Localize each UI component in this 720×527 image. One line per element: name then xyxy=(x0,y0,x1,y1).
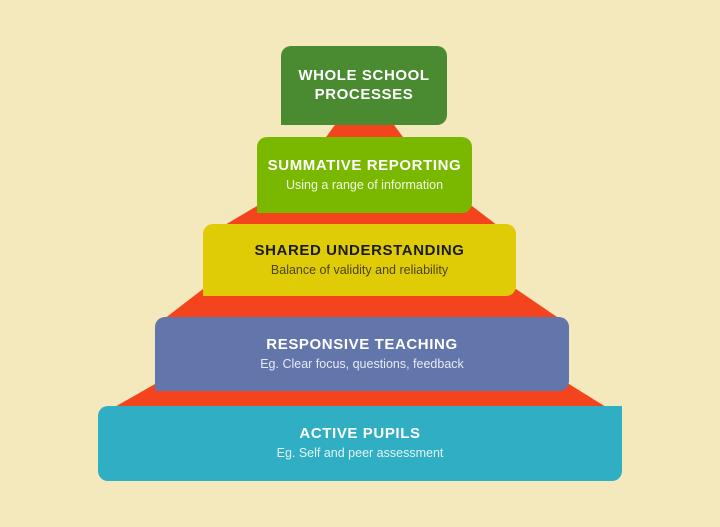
tier-subtitle: Using a range of information xyxy=(286,178,443,194)
tier-title: ACTIVE PUPILS xyxy=(299,425,420,443)
tier-title: WHOLE SCHOOL PROCESSES xyxy=(281,67,447,104)
tier-subtitle: Balance of validity and reliability xyxy=(271,263,448,279)
pyramid-tier-active-pupils[interactable]: ACTIVE PUPILS Eg. Self and peer assessme… xyxy=(98,406,622,481)
tier-title: RESPONSIVE TEACHING xyxy=(266,336,457,354)
pyramid-tier-shared-understanding[interactable]: SHARED UNDERSTANDING Balance of validity… xyxy=(203,224,516,296)
tier-title: SHARED UNDERSTANDING xyxy=(254,242,464,260)
pyramid-diagram: WHOLE SCHOOL PROCESSES SUMMATIVE REPORTI… xyxy=(0,0,720,527)
tier-title: SUMMATIVE REPORTING xyxy=(268,157,462,175)
pyramid-tier-summative-reporting[interactable]: SUMMATIVE REPORTING Using a range of inf… xyxy=(257,137,472,213)
tier-subtitle: Eg. Clear focus, questions, feedback xyxy=(260,357,464,373)
pyramid-tier-whole-school-processes[interactable]: WHOLE SCHOOL PROCESSES xyxy=(281,46,447,125)
pyramid-tier-responsive-teaching[interactable]: RESPONSIVE TEACHING Eg. Clear focus, que… xyxy=(155,317,569,391)
tier-subtitle: Eg. Self and peer assessment xyxy=(277,446,444,462)
